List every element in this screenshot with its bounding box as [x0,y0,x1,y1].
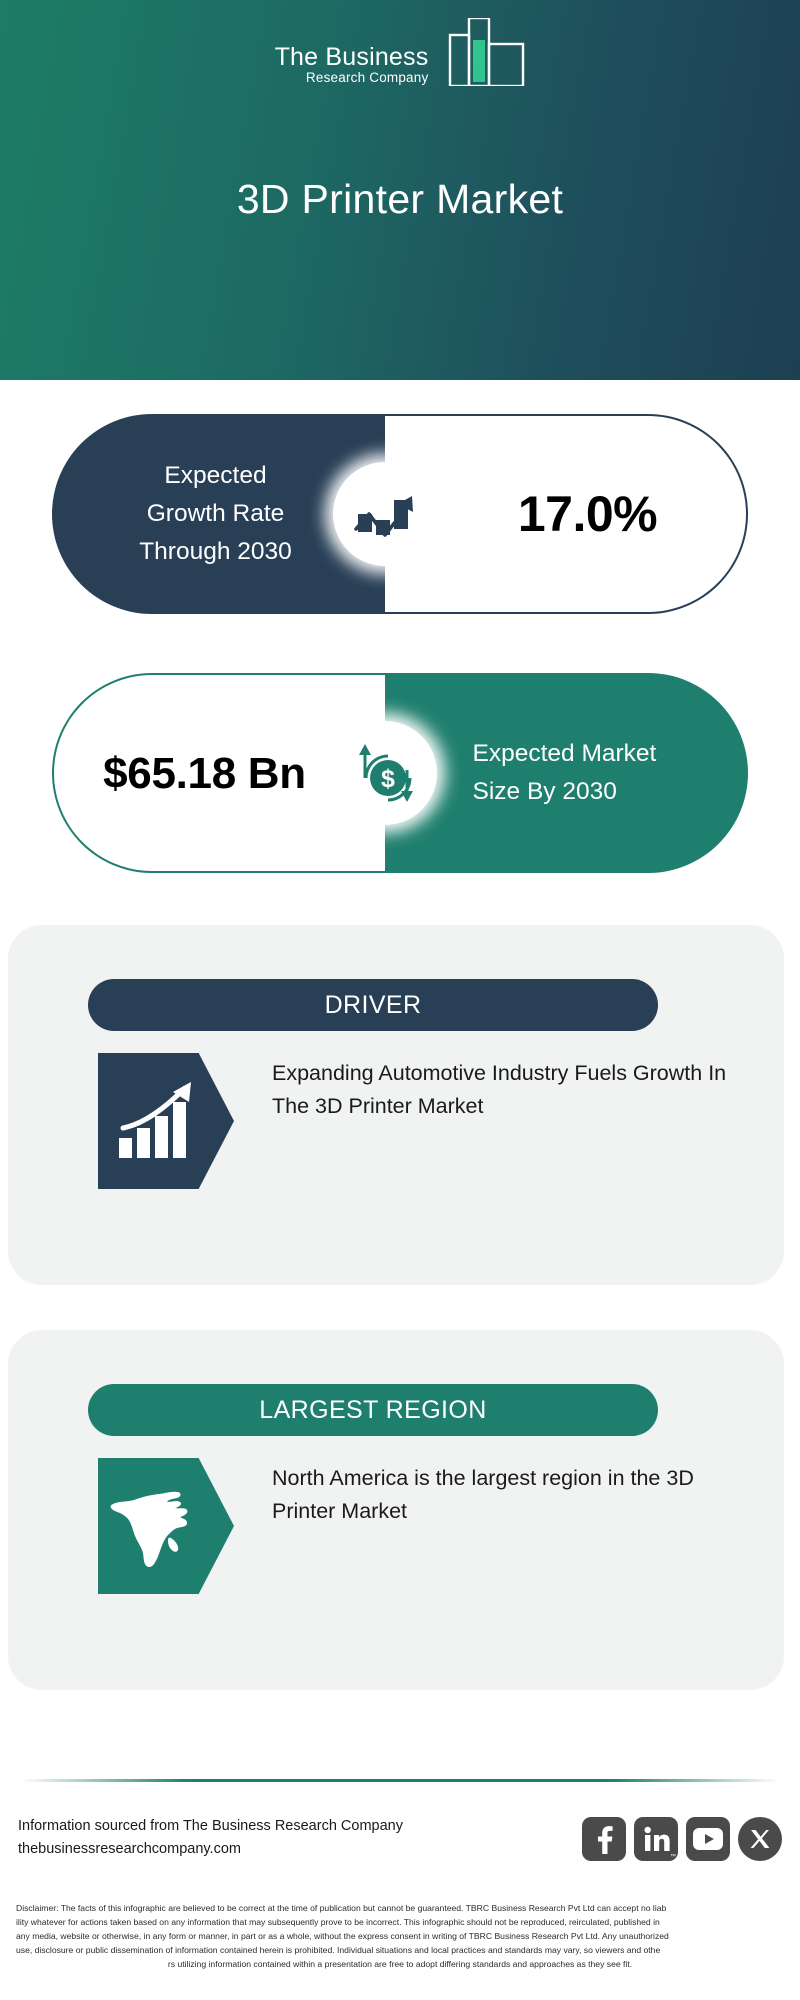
footer: Information sourced from The Business Re… [0,1815,800,1895]
panel-region-heading-label: LARGEST REGION [259,1396,486,1425]
panel-driver: DRIVER Expanding Automotive Industry Fue… [8,925,784,1285]
disclaimer: Disclaimer: The facts of this infographi… [0,1902,800,1972]
brand-logo: The Business Research Company [0,18,800,92]
market-size-label-panel: Expected Market Size By 2030 [385,673,748,873]
dollar-exchange-icon: $ [333,721,437,825]
panel-region-text: North America is the largest region in t… [234,1458,734,1527]
market-size-label: Expected Market Size By 2030 [431,735,703,811]
panel-driver-text: Expanding Automotive Industry Fuels Grow… [234,1053,734,1122]
stat-card-market-size: $65.18 Bn Expected Market Size By 2030 $ [52,673,748,873]
footer-source-line2[interactable]: thebusinessresearchcompany.com [18,1838,403,1861]
disclaimer-line: any media, website or otherwise, in any … [16,1930,784,1944]
brand-logo-text: The Business Research Company [275,44,429,92]
market-size-value: $65.18 Bn [80,746,360,801]
disclaimer-line: rs utilizing information contained withi… [16,1958,784,1972]
footer-source-line1: Information sourced from The Business Re… [18,1815,403,1838]
growth-chart-arrow-icon [333,462,437,566]
bar-chart-logo-icon [433,18,525,91]
brand-logo-line1: The Business [275,44,429,70]
page-title: 3D Printer Market [0,176,800,223]
north-america-map-icon [98,1458,234,1594]
panel-region-heading: LARGEST REGION [88,1384,658,1436]
x-twitter-icon[interactable] [738,1817,782,1861]
footer-divider [20,1779,780,1782]
panel-driver-heading: DRIVER [88,979,658,1031]
svg-text:$: $ [381,765,395,793]
disclaimer-line: use, disclosure or public dissemination … [16,1944,784,1958]
youtube-icon[interactable] [686,1817,730,1861]
header-banner: The Business Research Company 3D Printer… [0,0,800,380]
facebook-icon[interactable] [582,1817,626,1861]
disclaimer-line: ility whatever for actions taken based o… [16,1916,784,1930]
panel-largest-region: LARGEST REGION North America is the larg… [8,1330,784,1690]
social-links: ™ [582,1815,782,1861]
growth-rate-value-panel: 17.0% [385,414,748,614]
panel-region-body: North America is the largest region in t… [98,1458,734,1594]
brand-logo-line2: Research Company [306,70,429,86]
panel-driver-body: Expanding Automotive Industry Fuels Grow… [98,1053,734,1189]
stat-card-growth-rate: Expected Growth Rate Through 2030 17.0% [52,414,748,614]
growth-bars-arrow-icon [98,1053,234,1189]
growth-rate-value: 17.0% [474,485,657,543]
panel-driver-heading-label: DRIVER [325,991,422,1020]
footer-source: Information sourced from The Business Re… [18,1815,403,1861]
disclaimer-line: Disclaimer: The facts of this infographi… [16,1902,784,1916]
linkedin-icon[interactable]: ™ [634,1817,678,1861]
growth-rate-label: Expected Growth Rate Through 2030 [86,457,352,571]
